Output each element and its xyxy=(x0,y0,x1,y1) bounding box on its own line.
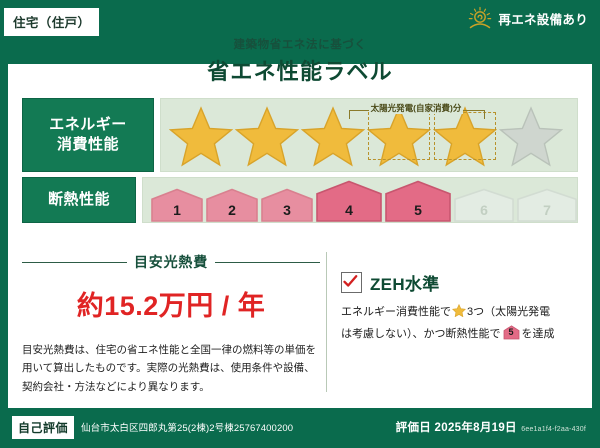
footer-right: 評価日 2025年8月19日 6ee1a1f4-f2aa-430f xyxy=(396,418,586,436)
zeh-panel: ZEH水準 エネルギー消費性能で3つ（太陽光発電 は考慮しない）、かつ断熱性能で… xyxy=(341,250,578,400)
zeh-heading: ZEH水準 xyxy=(341,270,578,295)
zeh-desc-part1: エネルギー消費性能で xyxy=(341,306,451,318)
title-subtitle: 建築物省エネ法に基づく xyxy=(0,36,600,52)
insulation-level-number: 1 xyxy=(151,202,203,218)
zeh-title: ZEH水準 xyxy=(370,270,440,295)
solar-note-label: 太陽光発電(自家消費)分 xyxy=(369,102,464,114)
evaluation-date: 評価日 2025年8月19日 xyxy=(396,422,517,434)
cost-heading-label: 目安光熱費 xyxy=(134,252,208,272)
energy-key-line1: エネルギー xyxy=(49,115,127,135)
renewable-badge-label: 再エネ設備あり xyxy=(498,9,588,28)
energy-performance-value: 太陽光発電(自家消費)分 xyxy=(160,98,578,172)
insulation-level-empty: 7 xyxy=(517,188,577,222)
mini-badge-number: 5 xyxy=(503,324,520,341)
renewable-energy-badge: 再エネ設備あり xyxy=(467,6,588,30)
lower-section: 目安光熱費 約15.2万円 / 年 目安光熱費は、住宅の省エネ性能と全国一律の燃… xyxy=(22,250,578,400)
label-footer: 自己評価 仙台市太白区四郎丸第25(2棟)2号棟25767400200 評価日 … xyxy=(8,412,592,442)
star-filled xyxy=(169,105,233,167)
insulation-level-scale: 1234567 xyxy=(143,178,577,222)
insulation-performance-label-key: 断熱性能 xyxy=(22,177,136,223)
cost-heading: 目安光熱費 xyxy=(22,252,320,272)
star-filled xyxy=(235,105,299,167)
insulation-level-number: 2 xyxy=(206,202,258,218)
cost-rule-left xyxy=(22,262,127,263)
energy-performance-label: 住宅（住戸） 再エネ設備あり 建築物省エネ法に基づく 省エネ性 xyxy=(0,0,600,448)
insulation-performance-value: 1234567 xyxy=(142,177,578,223)
cost-panel: 目安光熱費 約15.2万円 / 年 目安光熱費は、住宅の省エネ性能と全国一律の燃… xyxy=(22,250,320,400)
insulation-level-filled: 4 xyxy=(316,180,382,222)
insulation-level-filled: 1 xyxy=(151,188,203,222)
mini-star-icon xyxy=(452,308,466,320)
label-code: 6ee1a1f4-f2aa-430f xyxy=(521,426,586,433)
cost-disclaimer: 目安光熱費は、住宅の省エネ性能と全国一律の燃料等の単価を用いて算出したものです。… xyxy=(22,341,320,396)
insulation-level-number: 3 xyxy=(261,202,313,218)
section-divider xyxy=(326,252,327,392)
zeh-desc-part3: を達成 xyxy=(522,328,555,340)
sun-icon xyxy=(467,6,493,30)
mini-insulation-badge: 5 xyxy=(503,325,520,340)
insulation-level-filled: 3 xyxy=(261,188,313,222)
label-title-block: 建築物省エネ法に基づく 省エネ性能ラベル xyxy=(0,36,600,86)
insulation-level-filled: 2 xyxy=(206,188,258,222)
cost-value: 約15.2万円 / 年 xyxy=(22,284,320,323)
zeh-desc-stars: 3つ（太陽光発電 xyxy=(467,306,550,318)
performance-section: エネルギー 消費性能 太陽光発電(自家消費)分 断熱性能 1234567 xyxy=(22,98,578,228)
insulation-level-number: 5 xyxy=(385,202,451,218)
page-title: 省エネ性能ラベル xyxy=(0,54,600,86)
zeh-desc-part2: は考慮しない）、かつ断熱性能で xyxy=(341,328,501,340)
check-icon xyxy=(343,274,358,289)
insulation-level-number: 6 xyxy=(454,202,514,218)
zeh-description: エネルギー消費性能で3つ（太陽光発電 は考慮しない）、かつ断熱性能で5を達成 xyxy=(341,302,578,345)
energy-performance-row: エネルギー 消費性能 太陽光発電(自家消費)分 xyxy=(22,98,578,172)
cost-rule-right xyxy=(215,262,320,263)
zeh-checkbox[interactable] xyxy=(341,272,362,293)
self-evaluation-badge: 自己評価 xyxy=(12,416,74,439)
solar-note: 太陽光発電(自家消費)分 xyxy=(349,98,483,116)
star-empty xyxy=(499,105,563,167)
building-type-tag: 住宅（住戸） xyxy=(4,8,99,36)
insulation-level-empty: 6 xyxy=(454,188,514,222)
energy-key-line2: 消費性能 xyxy=(57,135,119,155)
energy-performance-label-key: エネルギー 消費性能 xyxy=(22,98,154,172)
insulation-level-filled: 5 xyxy=(385,180,451,222)
property-address: 仙台市太白区四郎丸第25(2棟)2号棟25767400200 xyxy=(81,420,293,434)
insulation-performance-row: 断熱性能 1234567 xyxy=(22,177,578,223)
insulation-level-number: 4 xyxy=(316,202,382,218)
insulation-level-number: 7 xyxy=(517,202,577,218)
insulation-key-label: 断熱性能 xyxy=(48,190,110,210)
